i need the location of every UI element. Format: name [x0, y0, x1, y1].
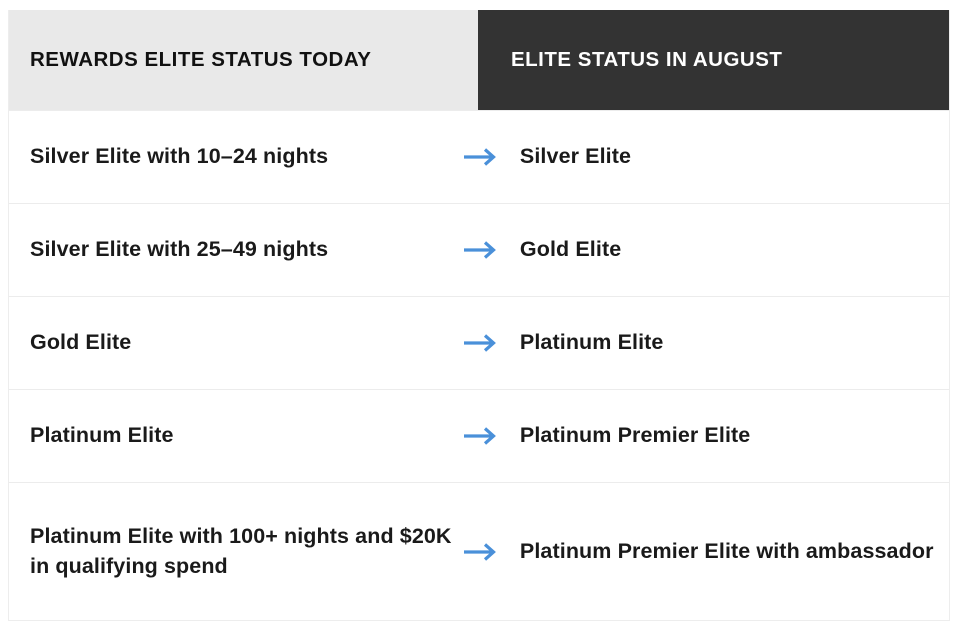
table-cell-future-status: Platinum Premier Elite with ambassador — [520, 483, 949, 620]
table-cell-arrow — [463, 111, 520, 203]
future-status-text: Silver Elite — [520, 142, 631, 171]
table-cell-current-status: Platinum Elite with 100+ nights and $20K… — [9, 483, 463, 620]
future-status-text: Platinum Premier Elite — [520, 421, 750, 450]
current-status-text: Silver Elite with 10–24 nights — [30, 142, 328, 171]
table-cell-current-status: Silver Elite with 10–24 nights — [9, 111, 463, 203]
table-header-cell-future-status: ELITE STATUS IN AUGUST — [478, 10, 949, 110]
table-row: Silver Elite with 25–49 nights Gold Elit… — [9, 203, 949, 296]
arrow-right-icon — [463, 332, 499, 354]
table-cell-current-status: Gold Elite — [9, 297, 463, 389]
table-cell-arrow — [463, 390, 520, 482]
future-status-text: Platinum Premier Elite with ambassador — [520, 537, 934, 566]
table-cell-arrow — [463, 297, 520, 389]
future-status-text: Gold Elite — [520, 235, 621, 264]
table-row: Silver Elite with 10–24 nights Silver El… — [9, 110, 949, 203]
current-status-text: Platinum Elite — [30, 421, 174, 450]
table-header-row: REWARDS ELITE STATUS TODAY ELITE STATUS … — [9, 10, 949, 110]
table-header-label-current-status: REWARDS ELITE STATUS TODAY — [30, 49, 371, 72]
arrow-right-icon — [463, 425, 499, 447]
table-cell-future-status: Platinum Elite — [520, 297, 949, 389]
arrow-right-icon — [463, 541, 499, 563]
table-header-label-future-status: ELITE STATUS IN AUGUST — [511, 49, 782, 72]
future-status-text: Platinum Elite — [520, 328, 664, 357]
table-cell-future-status: Platinum Premier Elite — [520, 390, 949, 482]
current-status-text: Silver Elite with 25–49 nights — [30, 235, 328, 264]
table-header-cell-current-status: REWARDS ELITE STATUS TODAY — [9, 10, 478, 110]
arrow-right-icon — [463, 239, 499, 261]
table-cell-arrow — [463, 204, 520, 296]
arrow-right-icon — [463, 146, 499, 168]
table-cell-arrow — [463, 483, 520, 620]
elite-status-table: REWARDS ELITE STATUS TODAY ELITE STATUS … — [8, 10, 950, 621]
table-cell-current-status: Platinum Elite — [9, 390, 463, 482]
table-cell-current-status: Silver Elite with 25–49 nights — [9, 204, 463, 296]
table-row: Gold Elite Platinum Elite — [9, 296, 949, 389]
table-cell-future-status: Gold Elite — [520, 204, 949, 296]
current-status-text: Gold Elite — [30, 328, 131, 357]
table-cell-future-status: Silver Elite — [520, 111, 949, 203]
table-row: Platinum Elite Platinum Premier Elite — [9, 389, 949, 482]
current-status-text: Platinum Elite with 100+ nights and $20K… — [30, 522, 455, 580]
table-row: Platinum Elite with 100+ nights and $20K… — [9, 482, 949, 620]
